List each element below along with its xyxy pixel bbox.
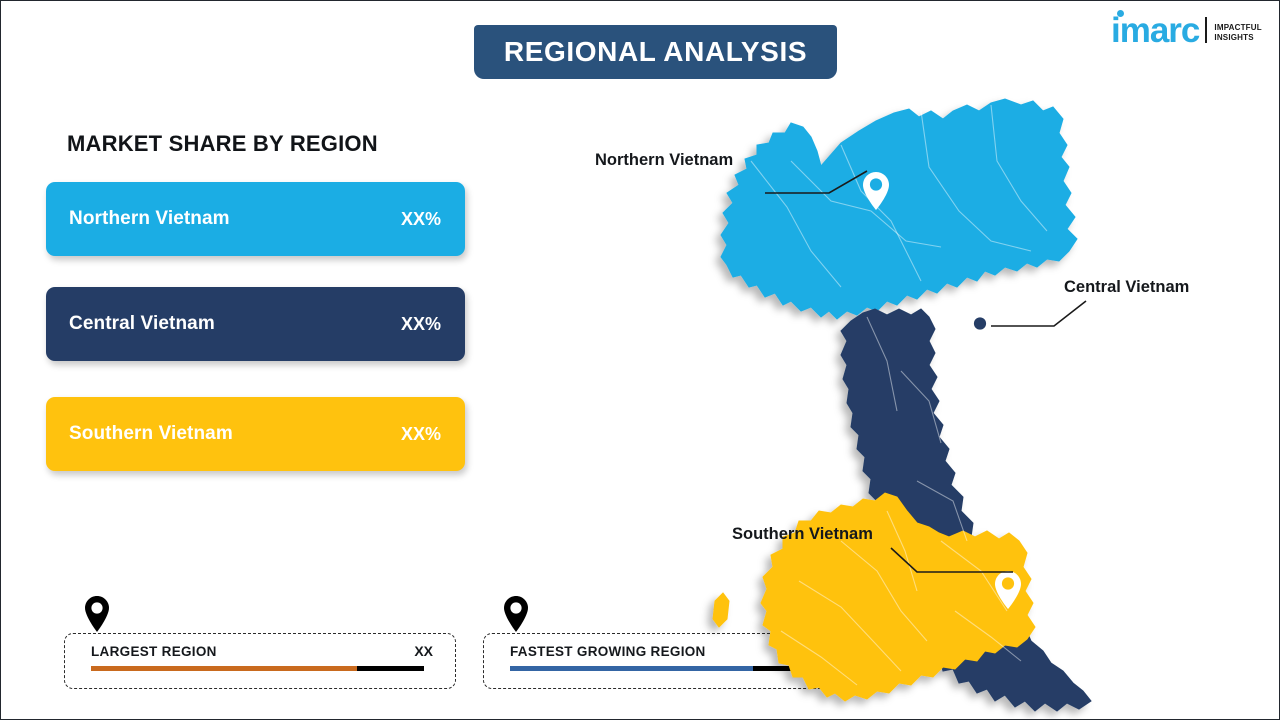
map-label-northern-vietnam: Northern Vietnam bbox=[595, 151, 733, 170]
regional-analysis-slide: REGIONAL ANALYSIS imarc IMPACTFUL INSIGH… bbox=[0, 0, 1280, 720]
map-label-southern-vietnam: Southern Vietnam bbox=[732, 525, 873, 544]
map-leader-lines bbox=[1, 1, 1280, 720]
map-label-central-vietnam: Central Vietnam bbox=[1064, 278, 1189, 297]
